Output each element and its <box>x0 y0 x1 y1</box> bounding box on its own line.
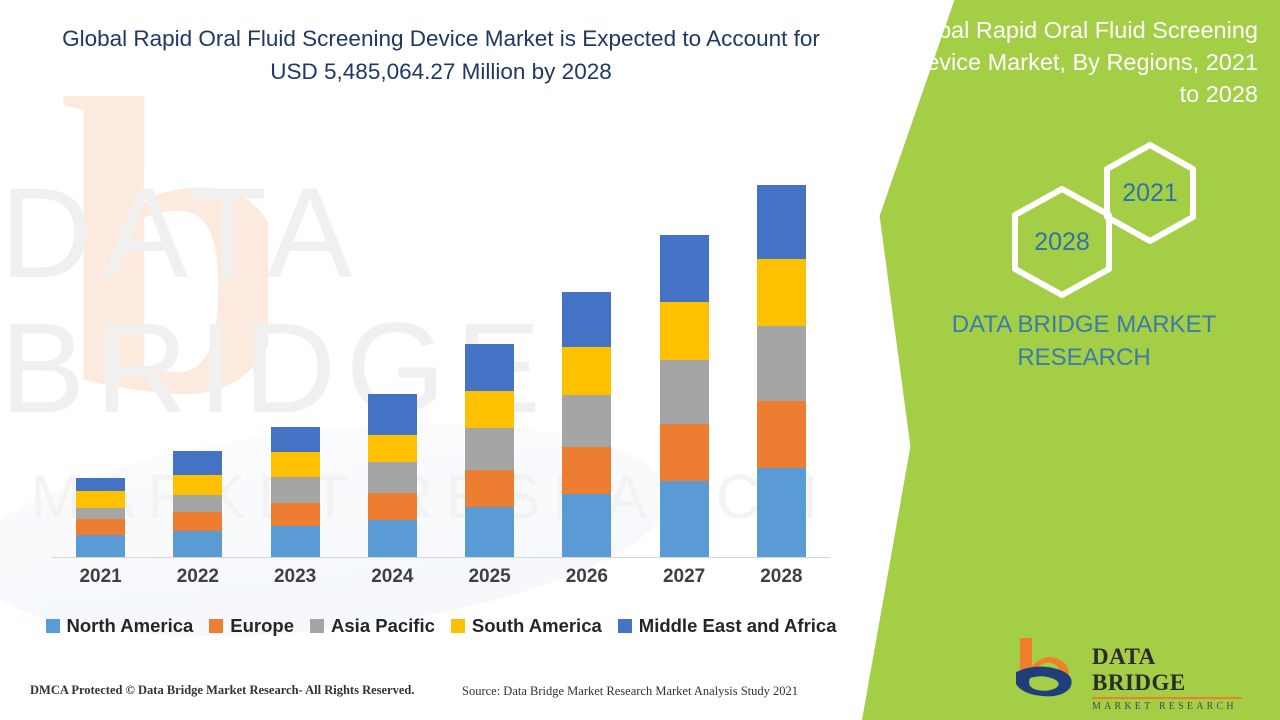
bar-segment[interactable] <box>271 503 320 526</box>
bar-segment[interactable] <box>465 391 514 428</box>
legend-swatch-icon <box>451 619 465 633</box>
bar-segment[interactable] <box>757 401 806 468</box>
bar-segment[interactable] <box>368 493 417 520</box>
bar-segment[interactable] <box>562 395 611 447</box>
bar-segment[interactable] <box>368 394 417 435</box>
bar-segment[interactable] <box>562 347 611 395</box>
bar-segment[interactable] <box>76 519 125 535</box>
bar-segment[interactable] <box>368 520 417 557</box>
bar-segment[interactable] <box>757 259 806 326</box>
bar-segment[interactable] <box>660 481 709 557</box>
logo-mark-icon <box>1012 636 1084 698</box>
bar-segment[interactable] <box>660 424 709 481</box>
bar-segment[interactable] <box>173 451 222 475</box>
x-axis-label: 2027 <box>636 566 733 588</box>
bar-2028[interactable] <box>757 185 806 557</box>
bar-segment[interactable] <box>76 478 125 491</box>
bar-segment[interactable] <box>76 491 125 508</box>
bar-segment[interactable] <box>368 462 417 493</box>
bar-segment[interactable] <box>562 447 611 494</box>
legend-label: Europe <box>230 615 294 637</box>
bar-segment[interactable] <box>757 468 806 557</box>
footer-source: Source: Data Bridge Market Research Mark… <box>462 684 798 699</box>
bar-2024[interactable] <box>368 394 417 557</box>
legend-item[interactable]: Middle East and Africa <box>618 615 837 637</box>
legend-item[interactable]: Asia Pacific <box>310 615 435 637</box>
hexagon-start-label: 2021 <box>1102 140 1198 246</box>
legend-item[interactable]: Europe <box>209 615 294 637</box>
bar-segment[interactable] <box>465 428 514 470</box>
bar-segment[interactable] <box>271 477 320 503</box>
x-axis-label: 2025 <box>441 566 538 588</box>
bar-segment[interactable] <box>173 531 222 557</box>
legend-label: Middle East and Africa <box>639 615 837 637</box>
hexagon-end-label: 2028 <box>1010 184 1114 300</box>
bar-segment[interactable] <box>368 435 417 462</box>
bar-segment[interactable] <box>271 526 320 557</box>
panel-title: Global Rapid Oral Fluid Screening Device… <box>892 14 1258 110</box>
bar-2022[interactable] <box>173 451 222 557</box>
logo-wordmark: DATA BRIDGE MARKET RESEARCH <box>1092 644 1252 713</box>
bar-segment[interactable] <box>173 495 222 512</box>
chart-plot-area <box>52 150 832 558</box>
bar-segment[interactable] <box>660 302 709 360</box>
x-axis-label: 2024 <box>344 566 441 588</box>
x-axis-labels: 20212022202320242025202620272028 <box>52 566 830 588</box>
bar-segment[interactable] <box>757 326 806 401</box>
x-axis-label: 2022 <box>149 566 246 588</box>
logo-name-bottom: MARKET RESEARCH <box>1092 701 1252 713</box>
legend-swatch-icon <box>618 619 632 633</box>
page-title: Global Rapid Oral Fluid Screening Device… <box>46 22 836 88</box>
legend-label: South America <box>472 615 602 637</box>
hexagon-badge-start: 2021 <box>1102 140 1198 246</box>
data-bridge-logo: DATA BRIDGE MARKET RESEARCH <box>1012 632 1252 702</box>
bar-segment[interactable] <box>76 535 125 557</box>
bar-group <box>52 157 830 557</box>
bar-segment[interactable] <box>465 507 514 557</box>
bar-2027[interactable] <box>660 235 709 557</box>
chart-legend: North AmericaEuropeAsia PacificSouth Ame… <box>52 615 830 637</box>
footer-copyright: DMCA Protected © Data Bridge Market Rese… <box>30 683 415 698</box>
bar-segment[interactable] <box>271 427 320 452</box>
bar-2026[interactable] <box>562 292 611 557</box>
legend-item[interactable]: North America <box>46 615 194 637</box>
bar-segment[interactable] <box>757 185 806 259</box>
legend-swatch-icon <box>209 619 223 633</box>
bar-2025[interactable] <box>465 344 514 557</box>
bar-segment[interactable] <box>173 512 222 531</box>
x-axis-label: 2028 <box>733 566 830 588</box>
hexagon-badge-end: 2028 <box>1010 184 1114 300</box>
bar-segment[interactable] <box>562 494 611 557</box>
x-axis-line <box>52 557 830 558</box>
bar-segment[interactable] <box>660 235 709 302</box>
legend-label: North America <box>67 615 194 637</box>
bar-segment[interactable] <box>562 292 611 347</box>
legend-label: Asia Pacific <box>331 615 435 637</box>
bar-2021[interactable] <box>76 478 125 557</box>
bar-segment[interactable] <box>76 508 125 519</box>
db-monogram-icon <box>1012 636 1084 698</box>
x-axis-label: 2026 <box>538 566 635 588</box>
bar-segment[interactable] <box>173 475 222 495</box>
bar-segment[interactable] <box>271 452 320 477</box>
x-axis-label: 2021 <box>52 566 149 588</box>
legend-swatch-icon <box>310 619 324 633</box>
bar-segment[interactable] <box>465 470 514 507</box>
legend-swatch-icon <box>46 619 60 633</box>
logo-divider <box>1092 697 1242 699</box>
legend-item[interactable]: South America <box>451 615 602 637</box>
logo-name-top: DATA BRIDGE <box>1092 644 1252 696</box>
bar-segment[interactable] <box>660 360 709 424</box>
hexagon-badges: 2021 2028 <box>1002 140 1202 280</box>
panel-brand-text: DATA BRIDGE MARKET RESEARCH <box>924 308 1244 374</box>
bar-2023[interactable] <box>271 427 320 557</box>
x-axis-label: 2023 <box>247 566 344 588</box>
bar-segment[interactable] <box>465 344 514 391</box>
